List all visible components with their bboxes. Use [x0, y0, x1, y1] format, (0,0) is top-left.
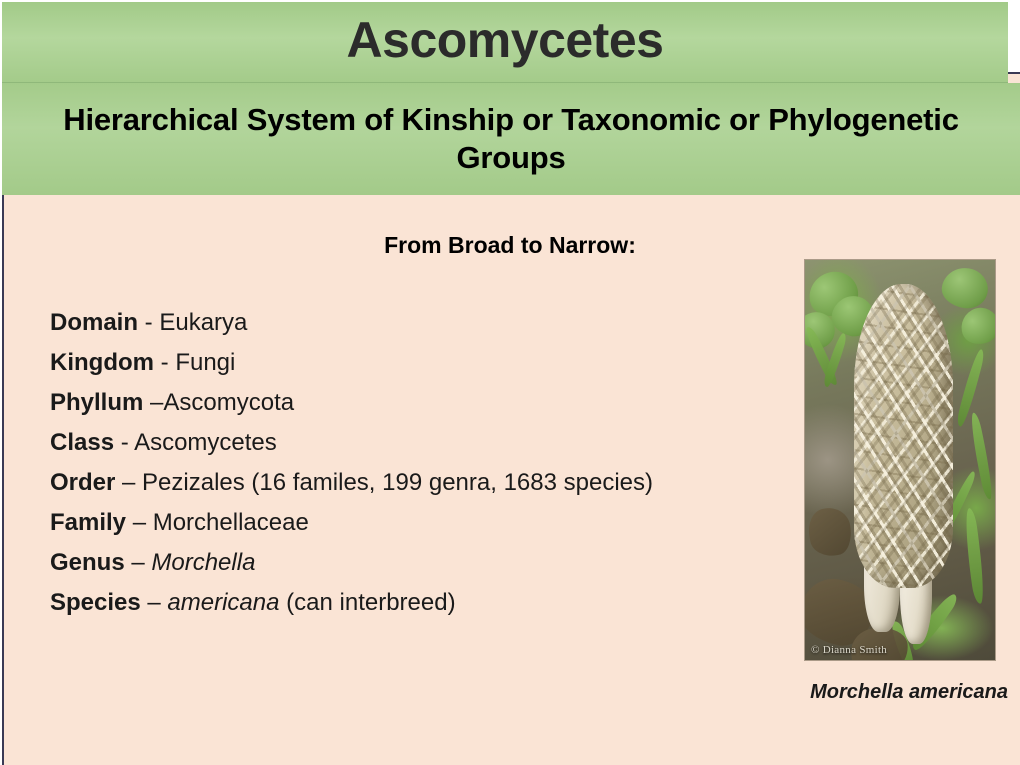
taxon-tail: (can interbreed): [279, 589, 455, 616]
taxon-value: Ascomycota: [163, 389, 294, 416]
title-band: Ascomycetes: [2, 2, 1008, 83]
taxon-value: Fungi: [175, 349, 235, 376]
taxon-separator: -: [138, 309, 159, 336]
taxon-rank: Class: [50, 429, 114, 456]
taxon-row: Family – Morchellaceae: [50, 503, 930, 543]
photo-watermark: © Dianna Smith: [811, 644, 887, 656]
taxon-separator: –: [115, 469, 142, 496]
taxon-row: Class - Ascomycetes: [50, 423, 930, 463]
slide-title: Ascomycetes: [347, 15, 664, 69]
taxon-value: Pezizales (16 familes, 199 genra, 1683 s…: [142, 469, 653, 496]
taxon-row: Kingdom - Fungi: [50, 343, 930, 383]
morel-mushroom-photo: © Dianna Smith: [805, 260, 995, 660]
slide-subtitle: Hierarchical System of Kinship or Taxono…: [10, 101, 1012, 178]
taxon-row: Order – Pezizales (16 familes, 199 genra…: [50, 463, 930, 503]
grass-blade: [955, 348, 985, 428]
grass-blade: [967, 412, 995, 500]
mushroom-cap: [854, 284, 953, 588]
leaf-litter: [805, 505, 854, 560]
taxon-value-italic: Morchella: [151, 549, 255, 576]
taxon-rank: Species: [50, 589, 141, 616]
taxon-value: Morchellaceae: [153, 509, 309, 536]
taxon-rank: Kingdom: [50, 349, 154, 376]
taxon-rank: Domain: [50, 309, 138, 336]
subtitle-band: Hierarchical System of Kinship or Taxono…: [2, 83, 1020, 195]
taxon-separator: -: [154, 349, 175, 376]
section-heading: From Broad to Narrow:: [0, 232, 1020, 259]
taxon-rank: Order: [50, 469, 115, 496]
taxon-value: Eukarya: [159, 309, 247, 336]
slide: Ascomycetes Hierarchical System of Kinsh…: [0, 0, 1020, 765]
grass-blade: [962, 508, 989, 605]
leaf-shape: [956, 303, 995, 349]
taxon-value: Ascomycetes: [134, 429, 277, 456]
taxon-rank: Phyllum: [50, 389, 143, 416]
taxon-value-italic: americana: [167, 589, 279, 616]
taxon-row: Domain - Eukarya: [50, 303, 930, 343]
taxon-separator: –: [143, 389, 163, 416]
taxon-separator: –: [126, 509, 153, 536]
taxonomy-list: Domain - Eukarya Kingdom - Fungi Phyllum…: [50, 303, 930, 623]
photo-background: © Dianna Smith: [805, 260, 995, 660]
taxon-row: Genus – Morchella: [50, 543, 930, 583]
taxon-row: Phyllum –Ascomycota: [50, 383, 930, 423]
taxon-separator: –: [141, 589, 168, 616]
taxon-rank: Genus: [50, 549, 125, 576]
taxon-row: Species – americana (can interbreed): [50, 583, 930, 623]
photo-caption: Morchella americana: [700, 681, 1008, 704]
taxon-separator: –: [125, 549, 152, 576]
taxon-separator: -: [114, 429, 134, 456]
cap-pits-shading: [854, 284, 953, 588]
taxon-rank: Family: [50, 509, 126, 536]
